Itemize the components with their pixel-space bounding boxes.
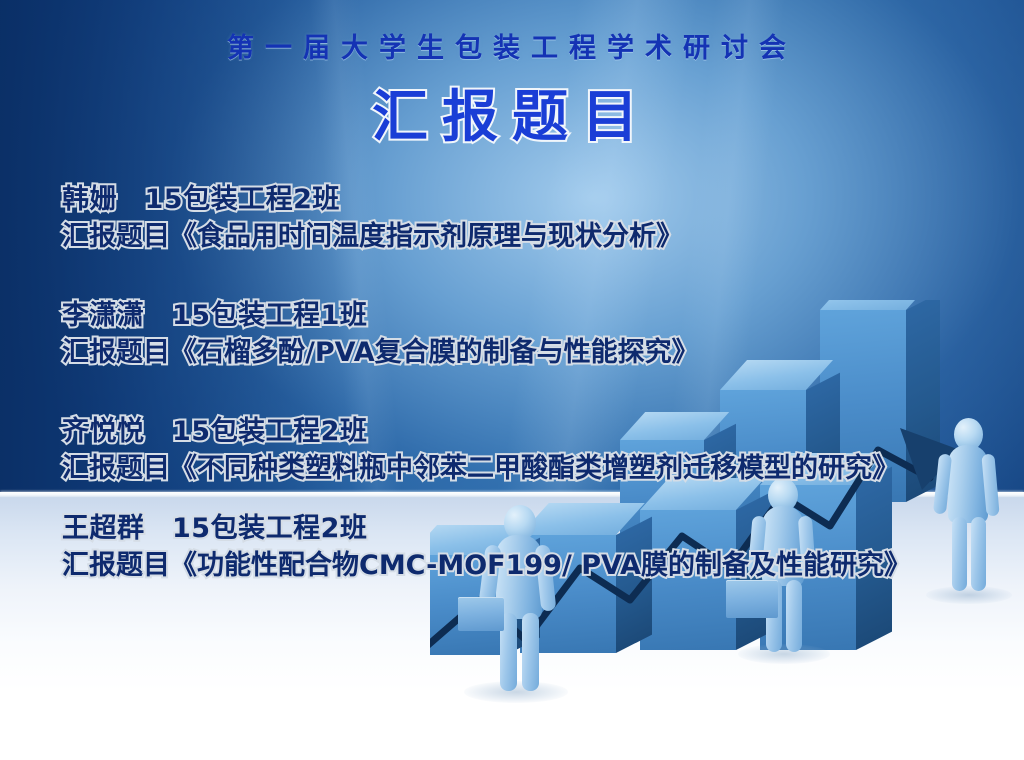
entry-name-line: 李潇潇 15包装工程1班 (62, 298, 699, 335)
entry-name-line: 齐悦悦 15包装工程2班 (62, 414, 899, 451)
entry-topic-line: 汇报题目《功能性配合物CMC-MOF199/ PVA膜的制备及性能研究》 (62, 548, 911, 585)
list-item: 齐悦悦 15包装工程2班 汇报题目《不同种类塑料瓶中邻苯二甲酸酯类增塑剂迁移模型… (62, 414, 899, 487)
list-item: 韩姗 15包装工程2班 汇报题目《食品用时间温度指示剂原理与现状分析》 (62, 182, 683, 255)
entry-name-line: 王超群 15包装工程2班 (62, 511, 911, 548)
entry-topic-line: 汇报题目《食品用时间温度指示剂原理与现状分析》 (62, 219, 683, 256)
list-item: 王超群 15包装工程2班 汇报题目《功能性配合物CMC-MOF199/ PVA膜… (62, 511, 911, 584)
entry-topic-line: 汇报题目《不同种类塑料瓶中邻苯二甲酸酯类增塑剂迁移模型的研究》 (62, 451, 899, 488)
presentation-slide: 第一届大学生包装工程学术研讨会 汇报题目 韩姗 15包装工程2班 汇报题目《食品… (0, 0, 1024, 760)
presentation-entry-list: 韩姗 15包装工程2班 汇报题目《食品用时间温度指示剂原理与现状分析》 李潇潇 … (0, 0, 1024, 760)
entry-topic-line: 汇报题目《石榴多酚/PVA复合膜的制备与性能探究》 (62, 335, 699, 372)
entry-name-line: 韩姗 15包装工程2班 (62, 182, 683, 219)
list-item: 李潇潇 15包装工程1班 汇报题目《石榴多酚/PVA复合膜的制备与性能探究》 (62, 298, 699, 371)
